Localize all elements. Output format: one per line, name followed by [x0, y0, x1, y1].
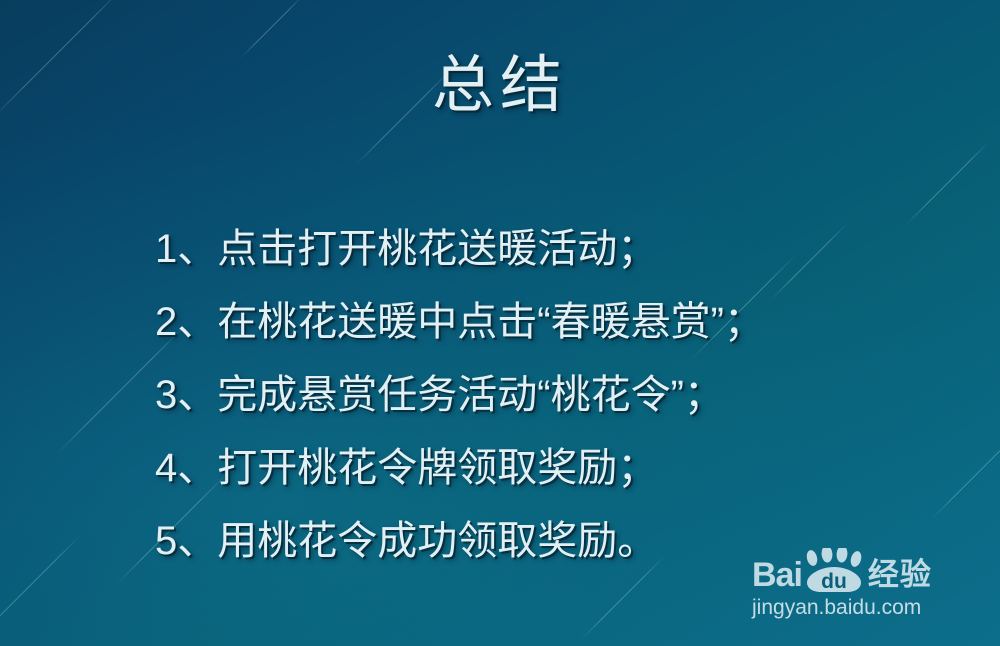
baidu-jingyan-watermark: Bai du 经验 jingyan.baidu.com: [752, 548, 992, 624]
steps-list: 1、点击打开桃花送暖活动； 2、在桃花送暖中点击“春暖悬赏”； 3、完成悬赏任务…: [155, 213, 955, 578]
baidu-logo-paw-text: du: [821, 570, 847, 592]
watermark-url: jingyan.baidu.com: [752, 596, 992, 620]
presentation-slide: 总结 1、点击打开桃花送暖活动； 2、在桃花送暖中点击“春暖悬赏”； 3、完成悬…: [0, 0, 1000, 646]
slide-title: 总结: [0, 50, 1000, 121]
list-item: 2、在桃花送暖中点击“春暖悬赏”；: [155, 286, 955, 359]
baidu-logo: Bai du 经验: [752, 548, 992, 592]
baidu-logo-chinese-text: 经验: [868, 559, 932, 592]
bear-paw-icon: du: [803, 548, 865, 592]
list-item: 3、完成悬赏任务活动“桃花令”；: [155, 359, 955, 432]
list-item: 1、点击打开桃花送暖活动；: [155, 213, 955, 286]
baidu-logo-latin-text: Bai: [752, 558, 802, 592]
list-item: 4、打开桃花令牌领取奖励；: [155, 432, 955, 505]
